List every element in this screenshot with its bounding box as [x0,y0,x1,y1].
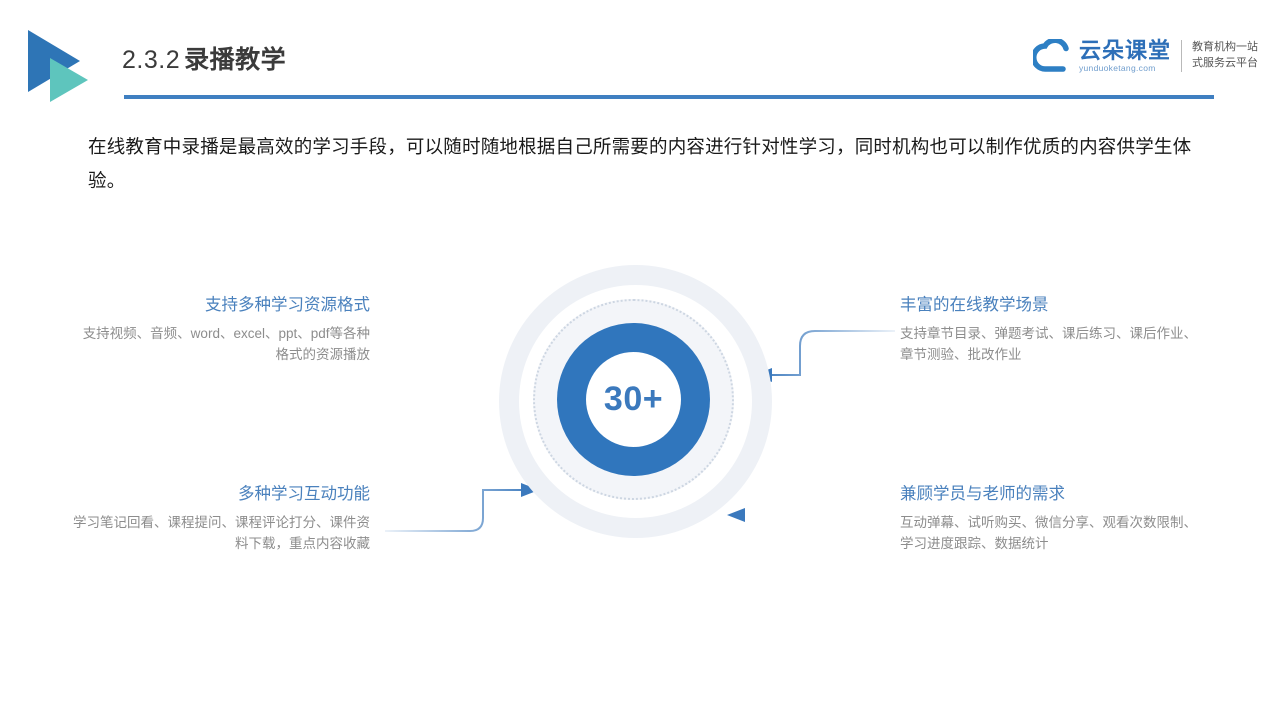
feature-description: 支持章节目录、弹题考试、课后练习、课后作业、章节测验、批改作业 [900,324,1210,366]
double-triangle-play-icon [28,30,102,102]
feature-description: 互动弹幕、试听购买、微信分享、观看次数限制、学习进度跟踪、数据统计 [900,513,1210,555]
diagram-white-ring: 30+ [519,285,752,518]
brand-wordmark: 云朵课堂 yunduoketang.com [1079,39,1171,73]
feature-title: 多种学习互动功能 [70,484,370,505]
center-value-label: 30+ [604,380,663,419]
connector-bottom-right [727,508,895,522]
triangle-teal-shape [50,58,88,102]
brand-divider [1181,40,1182,72]
feature-title: 兼顾学员与老师的需求 [900,484,1210,505]
feature-block-student-teacher-needs: 兼顾学员与老师的需求 互动弹幕、试听购买、微信分享、观看次数限制、学习进度跟踪、… [900,484,1210,555]
intro-paragraph: 在线教育中录播是最高效的学习手段，可以随时随地根据自己所需要的内容进行针对性学习… [88,130,1218,198]
brand-tagline-line1: 教育机构一站 [1192,40,1258,56]
title-underline-rule [124,95,1214,99]
feature-title: 丰富的在线教学场景 [900,295,1210,316]
diagram-blue-donut: 30+ [557,323,710,476]
brand-url: yunduoketang.com [1079,63,1171,73]
diagram-center-core: 30+ [586,352,681,447]
diagram-dotted-ring: 30+ [533,299,734,500]
brand-name-cn: 云朵课堂 [1079,39,1171,62]
feature-description: 学习笔记回看、课程提问、课程评论打分、课件资料下载，重点内容收藏 [70,513,370,555]
brand-tagline-line2: 式服务云平台 [1192,56,1258,72]
brand-logo: 云朵课堂 yunduoketang.com 教育机构一站 式服务云平台 [1033,33,1258,79]
connector-bottom-left [385,483,539,531]
connector-top-right [754,331,895,382]
feature-description: 支持视频、音频、word、excel、ppt、pdf等各种格式的资源播放 [70,324,370,366]
brand-tagline: 教育机构一站 式服务云平台 [1192,40,1258,72]
feature-block-interactive-functions: 多种学习互动功能 学习笔记回看、课程提问、课程评论打分、课件资料下载，重点内容收… [70,484,370,555]
feature-block-teaching-scenarios: 丰富的在线教学场景 支持章节目录、弹题考试、课后练习、课后作业、章节测验、批改作… [900,295,1210,366]
section-number: 2.3.2 [122,46,180,74]
diagram-outer-ring: 30+ [499,265,772,538]
page-title: 2.3.2录播教学 [122,48,286,73]
cloud-icon [1033,39,1077,73]
page-header: 2.3.2录播教学 云朵课堂 yunduoketang.com 教育机构一站 式… [0,0,1280,110]
section-title: 录播教学 [184,46,286,74]
feature-title: 支持多种学习资源格式 [70,295,370,316]
feature-block-resource-formats: 支持多种学习资源格式 支持视频、音频、word、excel、ppt、pdf等各种… [70,295,370,366]
